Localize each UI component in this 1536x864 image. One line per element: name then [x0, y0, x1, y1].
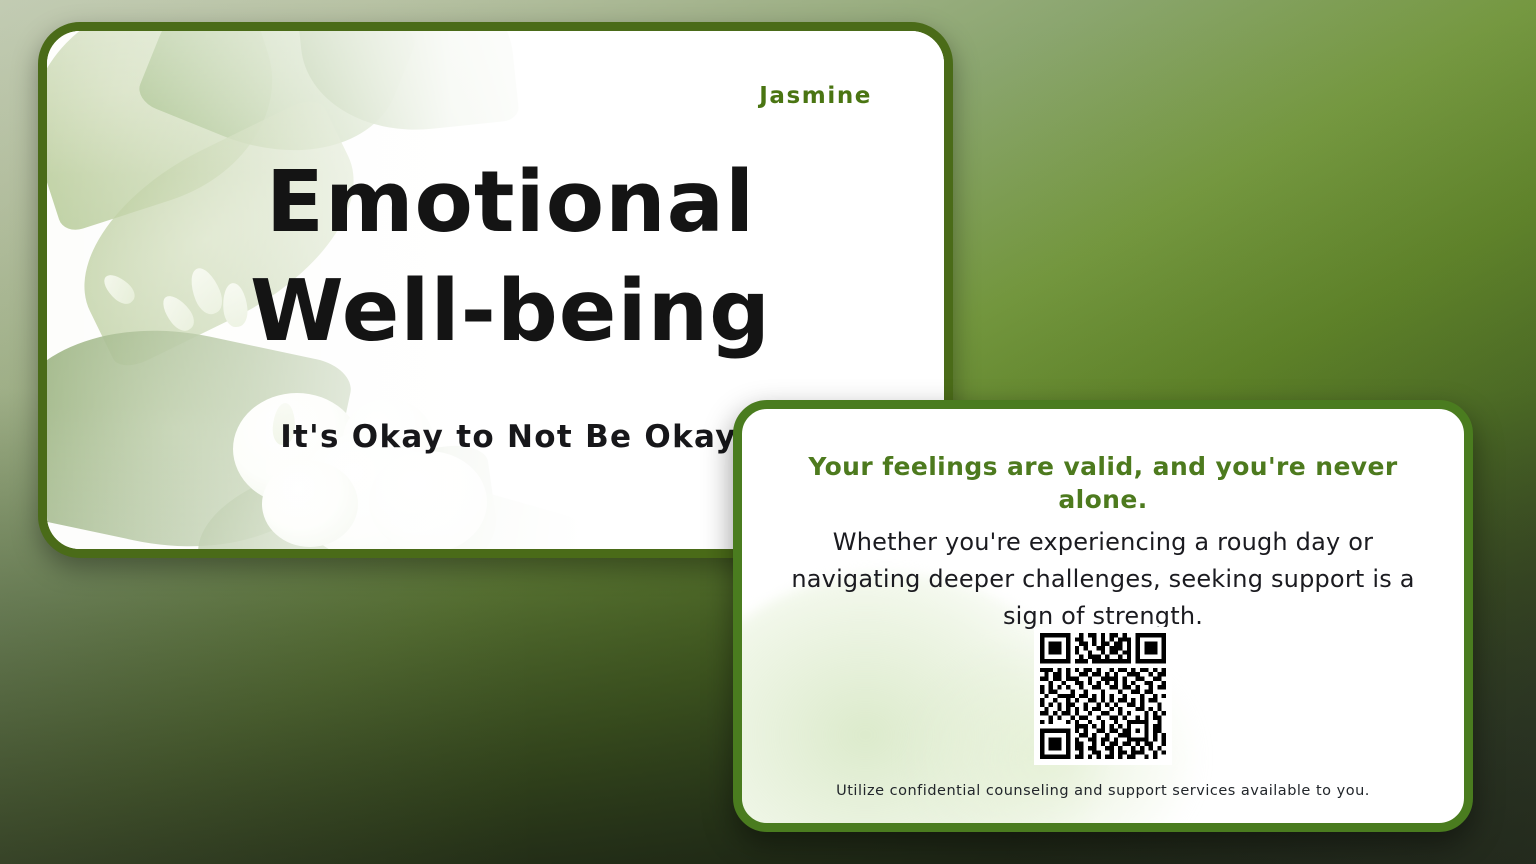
title-line-2: Well-being — [77, 258, 944, 367]
qr-code-icon — [1040, 633, 1166, 759]
jasmine-blossom — [262, 461, 358, 547]
title-line-1: Emotional — [77, 149, 944, 258]
qr-code[interactable] — [1034, 627, 1172, 765]
affirmation-headline: Your feelings are valid, and you're neve… — [776, 451, 1430, 516]
support-services-note: Utilize confidential counseling and supp… — [742, 783, 1464, 799]
page-title: Emotional Well-being — [47, 149, 944, 367]
affirmation-body: Whether you're experiencing a rough day … — [776, 524, 1430, 636]
author-name: Jasmine — [759, 83, 872, 109]
jasmine-blossom — [369, 451, 487, 549]
wellbeing-back-card[interactable]: Your feelings are valid, and you're neve… — [733, 400, 1473, 832]
